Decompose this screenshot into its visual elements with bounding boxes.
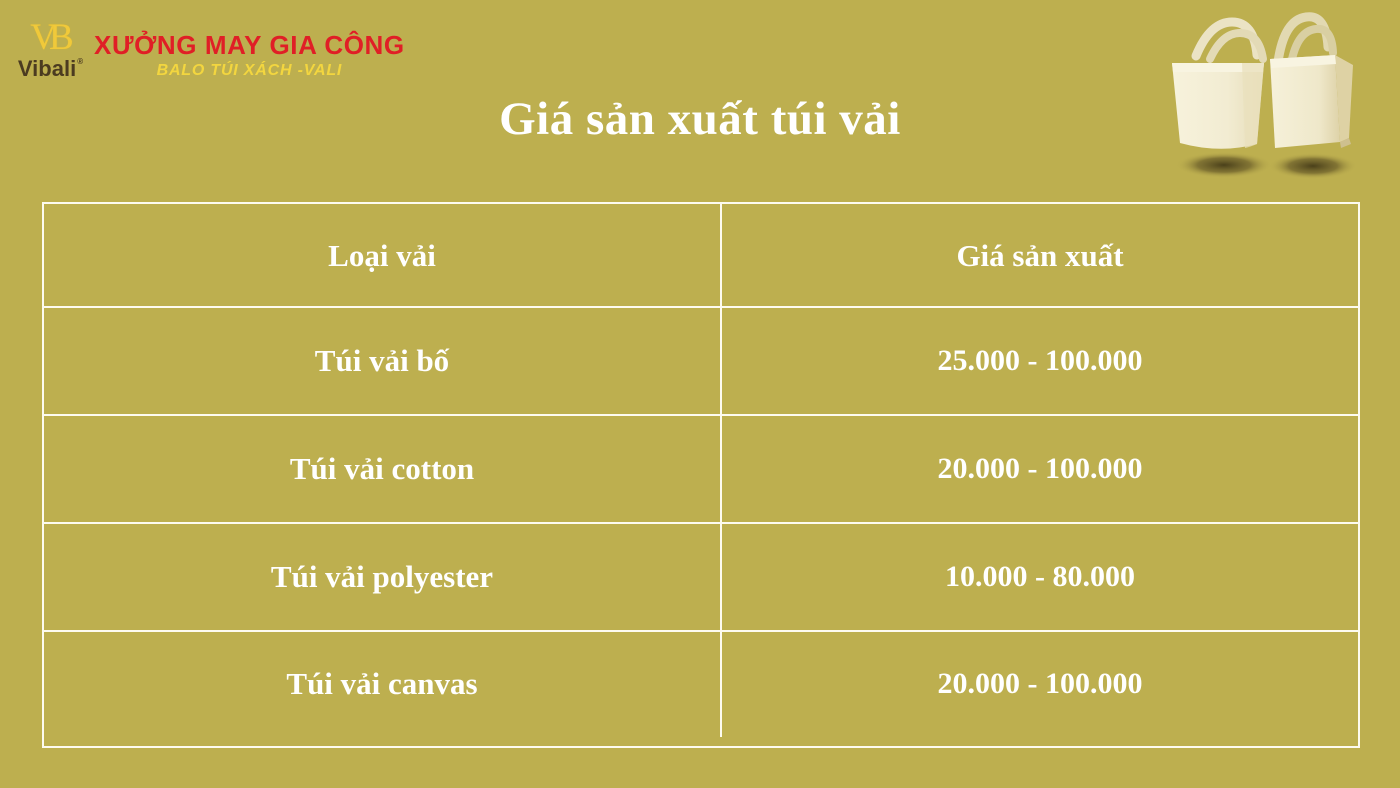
table-row: Túi vải canvas 20.000 - 100.000: [44, 631, 1358, 737]
table-row: Túi vải cotton 20.000 - 100.000: [44, 415, 1358, 523]
price-table: Loại vải Giá sản xuất Túi vải bố 25.000 …: [42, 202, 1360, 748]
vb-monogram-icon: VB: [30, 20, 69, 55]
table-row: Túi vải bố 25.000 - 100.000: [44, 307, 1358, 415]
cell-price: 10.000 - 80.000: [722, 523, 1358, 631]
cell-fabric-type: Túi vải cotton: [44, 415, 722, 523]
cell-fabric-type: Túi vải polyester: [44, 523, 722, 631]
tote-bag-right: [1270, 17, 1353, 148]
bag-shadow-right: [1269, 153, 1357, 179]
tote-bags-illustration: [1150, 2, 1396, 188]
cell-fabric-type: Túi vải bố: [44, 307, 722, 415]
brand-tagline-secondary: BALO TÚI XÁCH -VALI: [94, 61, 405, 80]
cell-price: 20.000 - 100.000: [722, 415, 1358, 523]
brand-tagline-block: XƯỞNG MAY GIA CÔNG BALO TÚI XÁCH -VALI: [94, 18, 405, 80]
tote-bag-left: [1172, 22, 1264, 149]
brand-logo-block: VB Vibali® XƯỞNG MAY GIA CÔNG BALO TÚI X…: [14, 18, 405, 82]
column-header-fabric-type: Loại vải: [44, 204, 722, 307]
vibali-logo: VB Vibali®: [14, 18, 86, 82]
brand-wordmark-text: Vibali: [18, 56, 76, 81]
monogram-letter-b: B: [49, 17, 68, 58]
cell-price: 20.000 - 100.000: [722, 631, 1358, 737]
brand-tagline-primary: XƯỞNG MAY GIA CÔNG: [94, 32, 405, 59]
bag-shadow-left: [1176, 152, 1272, 178]
cell-fabric-type: Túi vải canvas: [44, 631, 722, 737]
cell-price: 25.000 - 100.000: [722, 307, 1358, 415]
column-header-price: Giá sản xuất: [722, 204, 1358, 307]
brand-wordmark: Vibali®: [18, 56, 82, 82]
tote-bags-svg: [1150, 2, 1396, 188]
table-header-row: Loại vải Giá sản xuất: [44, 204, 1358, 307]
registered-trademark-icon: ®: [77, 57, 83, 66]
monogram-letter-v: V: [30, 17, 51, 58]
table-row: Túi vải polyester 10.000 - 80.000: [44, 523, 1358, 631]
